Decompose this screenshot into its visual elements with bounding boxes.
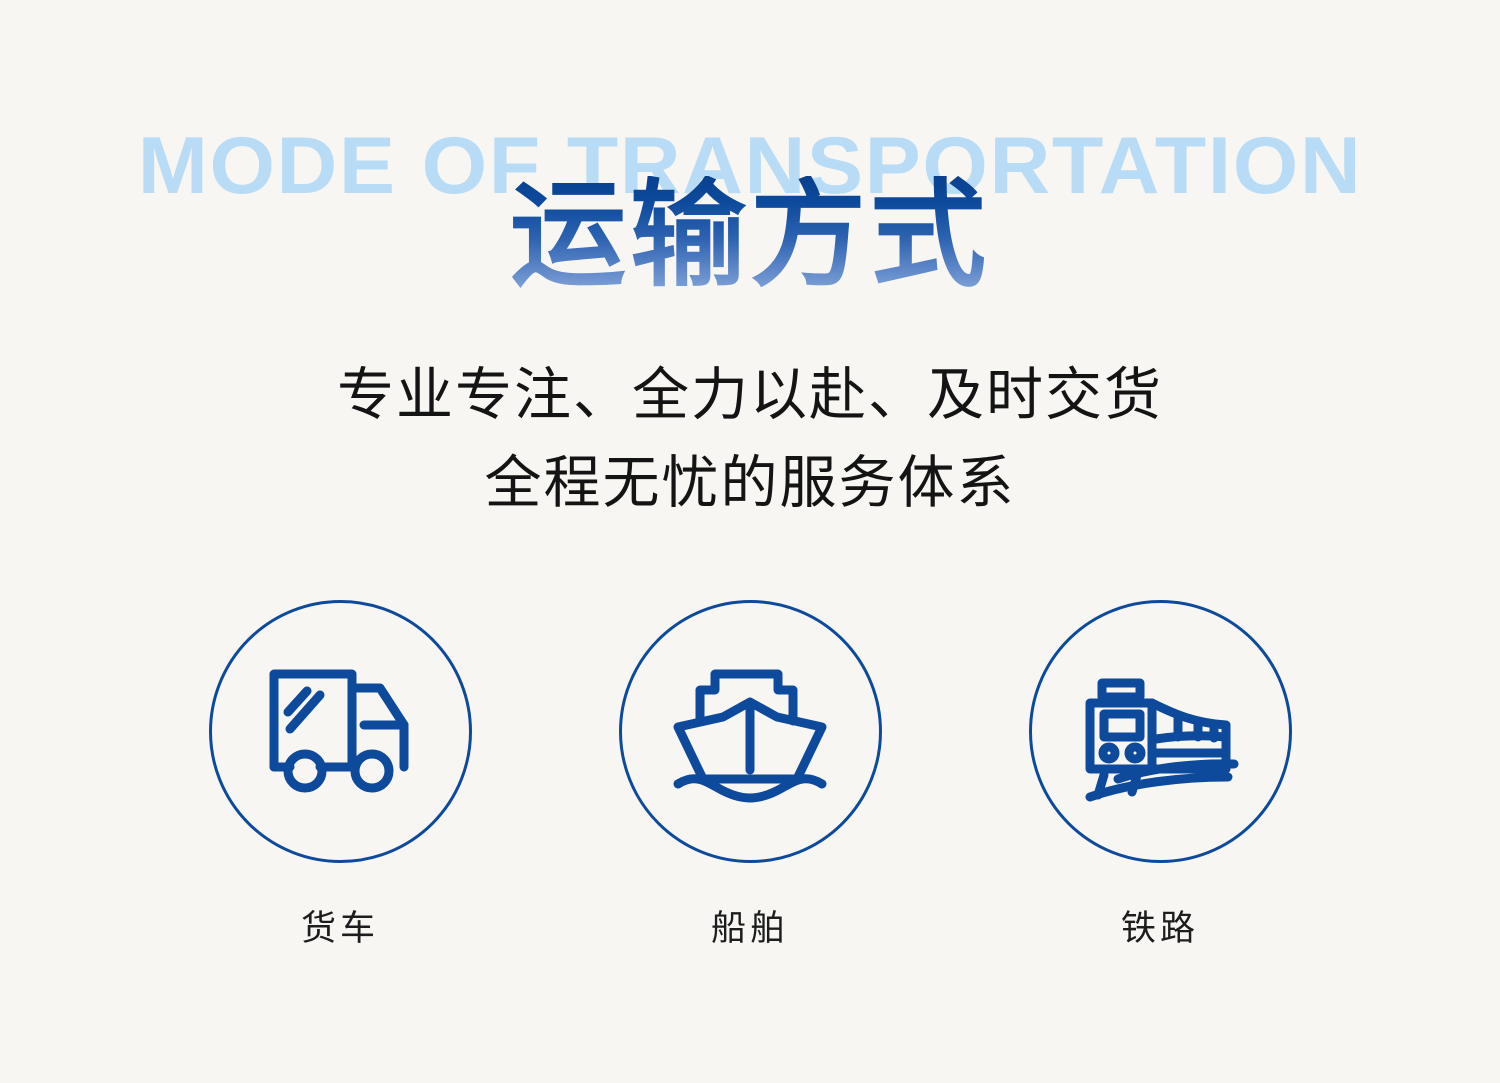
page-title-chinese: 运输方式 [0,176,1500,295]
ship-icon-circle[interactable] [619,600,882,863]
title-block: MODE OF TRANSPORTATION 运输方式 [0,0,1500,330]
train-icon [1078,657,1243,807]
truck-icon [260,657,420,807]
ship-icon [670,657,830,807]
subtitle: 专业专注、全力以赴、及时交货 全程无忧的服务体系 [0,352,1500,528]
transport-mode-railway[interactable]: 铁路 [1029,600,1292,947]
transport-mode-truck[interactable]: 货车 [209,600,472,947]
subtitle-line-1: 专业专注、全力以赴、及时交货 [0,352,1500,440]
transport-mode-label-ship: 船舶 [711,912,789,947]
truck-icon-circle[interactable] [209,600,472,863]
transport-mode-label-railway: 铁路 [1121,912,1199,947]
transport-mode-label-truck: 货车 [301,912,379,947]
poster-stage: MODE OF TRANSPORTATION 运输方式 专业专注、全力以赴、及时… [0,0,1500,1083]
subtitle-line-2: 全程无忧的服务体系 [0,440,1500,528]
transport-mode-ship[interactable]: 船舶 [619,600,882,947]
train-icon-circle[interactable] [1029,600,1292,863]
transport-mode-list: 货车 船舶 [0,600,1500,1000]
